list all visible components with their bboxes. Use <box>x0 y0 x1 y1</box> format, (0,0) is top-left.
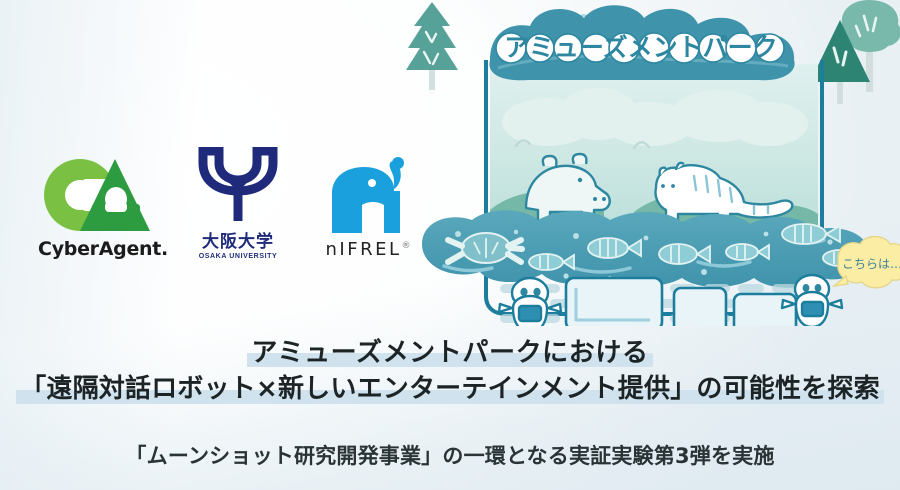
tree-left-pine <box>406 2 458 90</box>
display-panel-2 <box>674 288 726 326</box>
logo-osaka-university: 大阪大学 OSAKA UNIVERSITY <box>183 147 293 260</box>
amusement-park-illustration: アミューズメントパーク <box>398 0 900 326</box>
headline-line-2: 「遠隔対話ロボット×新しいエンターテインメント提供」の可能性を探索 <box>20 372 880 406</box>
display-panel-3 <box>734 294 796 326</box>
park-sign-label: アミューズメントパーク <box>504 33 777 62</box>
display-panel-1 <box>566 278 662 326</box>
cyberagent-mark-icon <box>44 157 162 231</box>
logo-cyberagent: CyberAgent. <box>38 157 168 260</box>
osaka-university-wordmark-jp: 大阪大学 <box>183 227 293 252</box>
promo-banner: CyberAgent. 大阪大学 OSAKA UNIVERSITY <box>0 0 900 490</box>
subline-text: 「ムーンショット研究開発事業」の一環となる実証実験第3弾を実施 <box>0 440 900 470</box>
headline-line-1-text: アミューズメントパークにおける <box>251 338 648 368</box>
nifrel-wordmark-text: nIFREL <box>326 239 402 260</box>
headline-line-2-text: 「遠隔対話ロボット×新しいエンターテインメント提供」の可能性を探索 <box>20 374 880 404</box>
cyberagent-wordmark: CyberAgent. <box>38 238 168 260</box>
osaka-university-wordmark-en: OSAKA UNIVERSITY <box>183 253 293 260</box>
park-sign-text-glyphs: アミューズメントパーク <box>496 33 784 63</box>
partner-logo-row: CyberAgent. 大阪大学 OSAKA UNIVERSITY <box>38 140 428 260</box>
speech-bubble-label: こちらは… <box>842 257 900 271</box>
headline-line-1: アミューズメントパークにおける <box>251 336 648 370</box>
osaka-university-mark-icon <box>195 147 281 221</box>
headline-block: アミューズメントパークにおける 「遠隔対話ロボット×新しいエンターテインメント提… <box>0 336 900 407</box>
